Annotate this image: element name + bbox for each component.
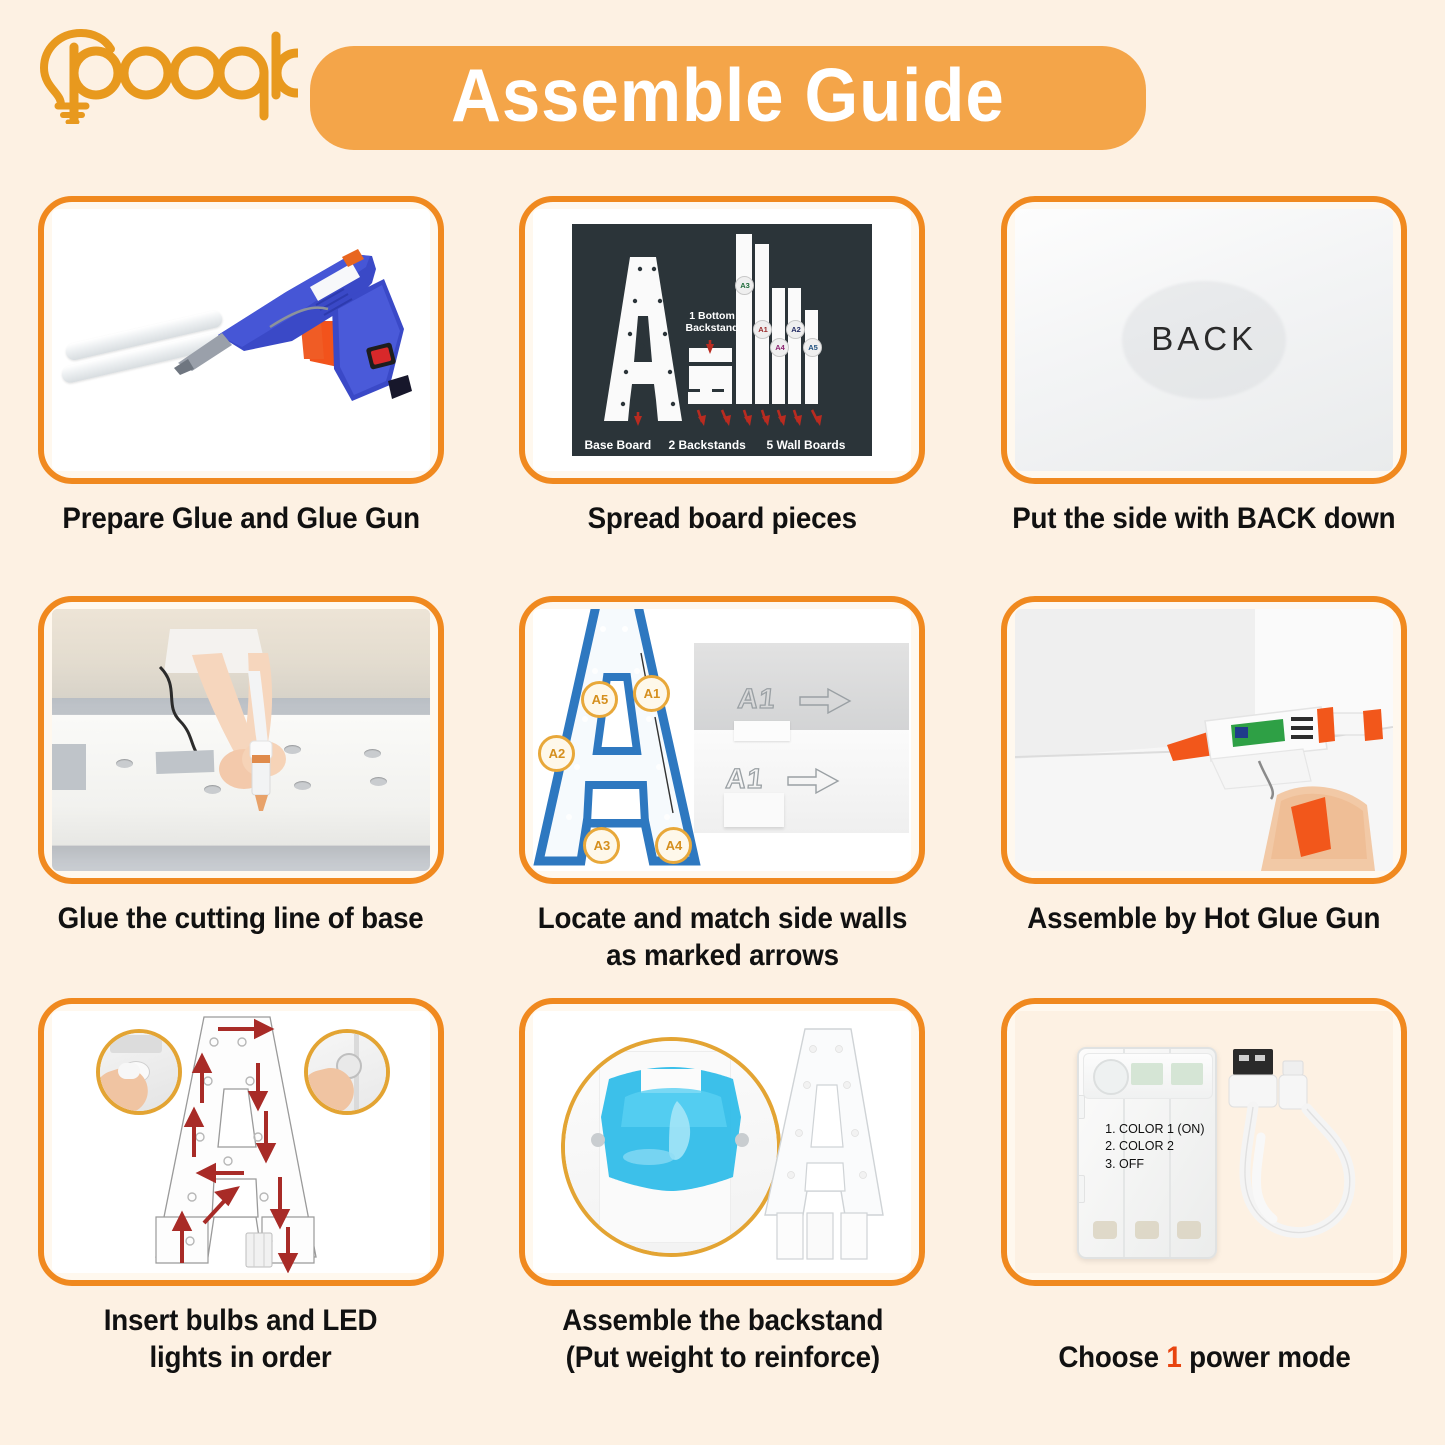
step-card-8: Assemble the backstand (Put weight to re…: [482, 998, 964, 1418]
step-image-frame-5: A5 A1 A2 A3 A4 A1 A1: [519, 596, 925, 884]
board-pieces-diagram: 1 Bottom Backstand A3 A1 A4 A2 A5 Base B…: [533, 209, 911, 471]
water-bag-icon: [565, 1041, 777, 1253]
step-caption-5: Locate and match side walls as marked ar…: [538, 900, 907, 974]
battery-box: 1. COLOR 1 (ON) 2. COLOR 2 3. OFF: [1077, 1047, 1217, 1259]
bulb-hole: [370, 777, 387, 786]
base-board-letter-a: [572, 224, 872, 456]
step-caption-7: Insert bulbs and LED lights in order: [104, 1302, 378, 1376]
battery-cell: [1135, 1221, 1159, 1239]
step-image-frame-2: 1 Bottom Backstand A3 A1 A4 A2 A5 Base B…: [519, 196, 925, 484]
usb-cable-icon: [1221, 1041, 1371, 1255]
caption-highlight: 1: [1166, 1341, 1181, 1374]
cut-notch: [155, 750, 214, 774]
circuit-board: [1131, 1063, 1163, 1085]
footer-label-base-board: Base Board: [584, 438, 651, 452]
steps-grid: Prepare Glue and Glue Gun: [0, 196, 1445, 1445]
lightbulb-icon: [18, 16, 298, 124]
step-caption-1: Prepare Glue and Glue Gun: [62, 500, 419, 537]
box-clip-bottom: [1077, 1175, 1085, 1203]
glue-gun-icon: [52, 209, 430, 471]
back-side-photo: BACK: [1015, 209, 1393, 471]
bulb-insert-order-diagram: [52, 1011, 430, 1273]
board-pieces-scene: 1 Bottom Backstand A3 A1 A4 A2 A5 Base B…: [572, 224, 872, 456]
cut-notch: [52, 744, 86, 790]
step-image-frame-7: [38, 998, 444, 1286]
tab-notch: [724, 793, 784, 827]
footer-label-wall-boards: 5 Wall Boards: [766, 438, 845, 452]
bulb-hole: [284, 745, 301, 754]
footer-label-backstands: 2 Backstands: [668, 438, 745, 452]
bulb-hole: [116, 759, 133, 768]
step-image-frame-8: [519, 998, 925, 1286]
back-label: BACK: [1151, 320, 1257, 358]
step-image-frame-6: [1001, 596, 1407, 884]
assembled-letter-a-icon: [747, 1023, 897, 1271]
step-card-2: 1 Bottom Backstand A3 A1 A4 A2 A5 Base B…: [482, 196, 964, 596]
step-card-6: Assemble by Hot Glue Gun: [963, 596, 1445, 998]
battery-cell: [1093, 1221, 1117, 1239]
box-clip-top: [1077, 1095, 1085, 1119]
step-image-frame-4: [38, 596, 444, 884]
step-card-9: 1. COLOR 1 (ON) 2. COLOR 2 3. OFF: [963, 998, 1445, 1418]
a1-label-upper: A1: [737, 683, 778, 715]
step-caption-4: Glue the cutting line of base: [58, 900, 424, 937]
hot-glue-gun-photo: [1015, 609, 1393, 871]
step-image-frame-9: 1. COLOR 1 (ON) 2. COLOR 2 3. OFF: [1001, 998, 1407, 1286]
usb-cable: [1221, 1041, 1371, 1255]
step-card-7: Insert bulbs and LED lights in order: [0, 998, 482, 1418]
backstand-weight-photo: [533, 1011, 911, 1273]
step-caption-6: Assemble by Hot Glue Gun: [1028, 900, 1381, 937]
step-card-4: Glue the cutting line of base: [0, 596, 482, 998]
circuit-board: [1171, 1063, 1203, 1085]
arrow-right-icon-lower: [786, 765, 844, 795]
switch-dial-icon[interactable]: [1093, 1059, 1129, 1095]
step-card-1: Prepare Glue and Glue Gun: [0, 196, 482, 596]
page-title: Assemble Guide: [451, 58, 1005, 139]
inset-insert-bulb-left: [96, 1029, 182, 1115]
side-wall-photo: A1 A1: [694, 643, 909, 833]
bottom-backstand-annotation: 1 Bottom Backstand: [685, 310, 738, 334]
inset-insert-bulb-right: [304, 1029, 390, 1115]
hot-glue-gun-scene-icon: [1015, 609, 1393, 871]
power-mode-photo: 1. COLOR 1 (ON) 2. COLOR 2 3. OFF: [1015, 1011, 1393, 1273]
bulb-hole: [364, 749, 381, 758]
power-mode-list: 1. COLOR 1 (ON) 2. COLOR 2 3. OFF: [1105, 1121, 1204, 1173]
caption-prefix: Choose: [1058, 1341, 1166, 1374]
step-caption-9: Choose 1 power mode: [1058, 1302, 1350, 1376]
a1-label-lower: A1: [725, 763, 766, 795]
tab-notch: [734, 721, 790, 741]
step-caption-8: Assemble the backstand (Put weight to re…: [562, 1302, 883, 1376]
bulb-hole: [204, 785, 221, 794]
caption-suffix: power mode: [1181, 1341, 1350, 1374]
glue-gun-photo: [52, 209, 430, 471]
step-image-frame-3: BACK: [1001, 196, 1407, 484]
brand-logo: [18, 16, 298, 124]
step-card-5: A5 A1 A2 A3 A4 A1 A1: [482, 596, 964, 998]
bulb-hole: [294, 781, 311, 790]
gluing-base-photo: [52, 609, 430, 871]
gluing-scene-icon: [52, 609, 430, 871]
locate-side-walls-diagram: A5 A1 A2 A3 A4 A1 A1: [533, 609, 911, 871]
step-caption-2: Spread board pieces: [588, 500, 857, 537]
step-card-3: BACK Put the side with BACK down: [963, 196, 1445, 596]
step-image-frame-1: [38, 196, 444, 484]
title-banner: Assemble Guide: [310, 46, 1146, 150]
battery-cell: [1177, 1221, 1201, 1239]
arrow-right-icon-upper: [798, 685, 856, 715]
step-caption-3: Put the side with BACK down: [1013, 500, 1396, 537]
page-header: Assemble Guide: [0, 0, 1445, 178]
